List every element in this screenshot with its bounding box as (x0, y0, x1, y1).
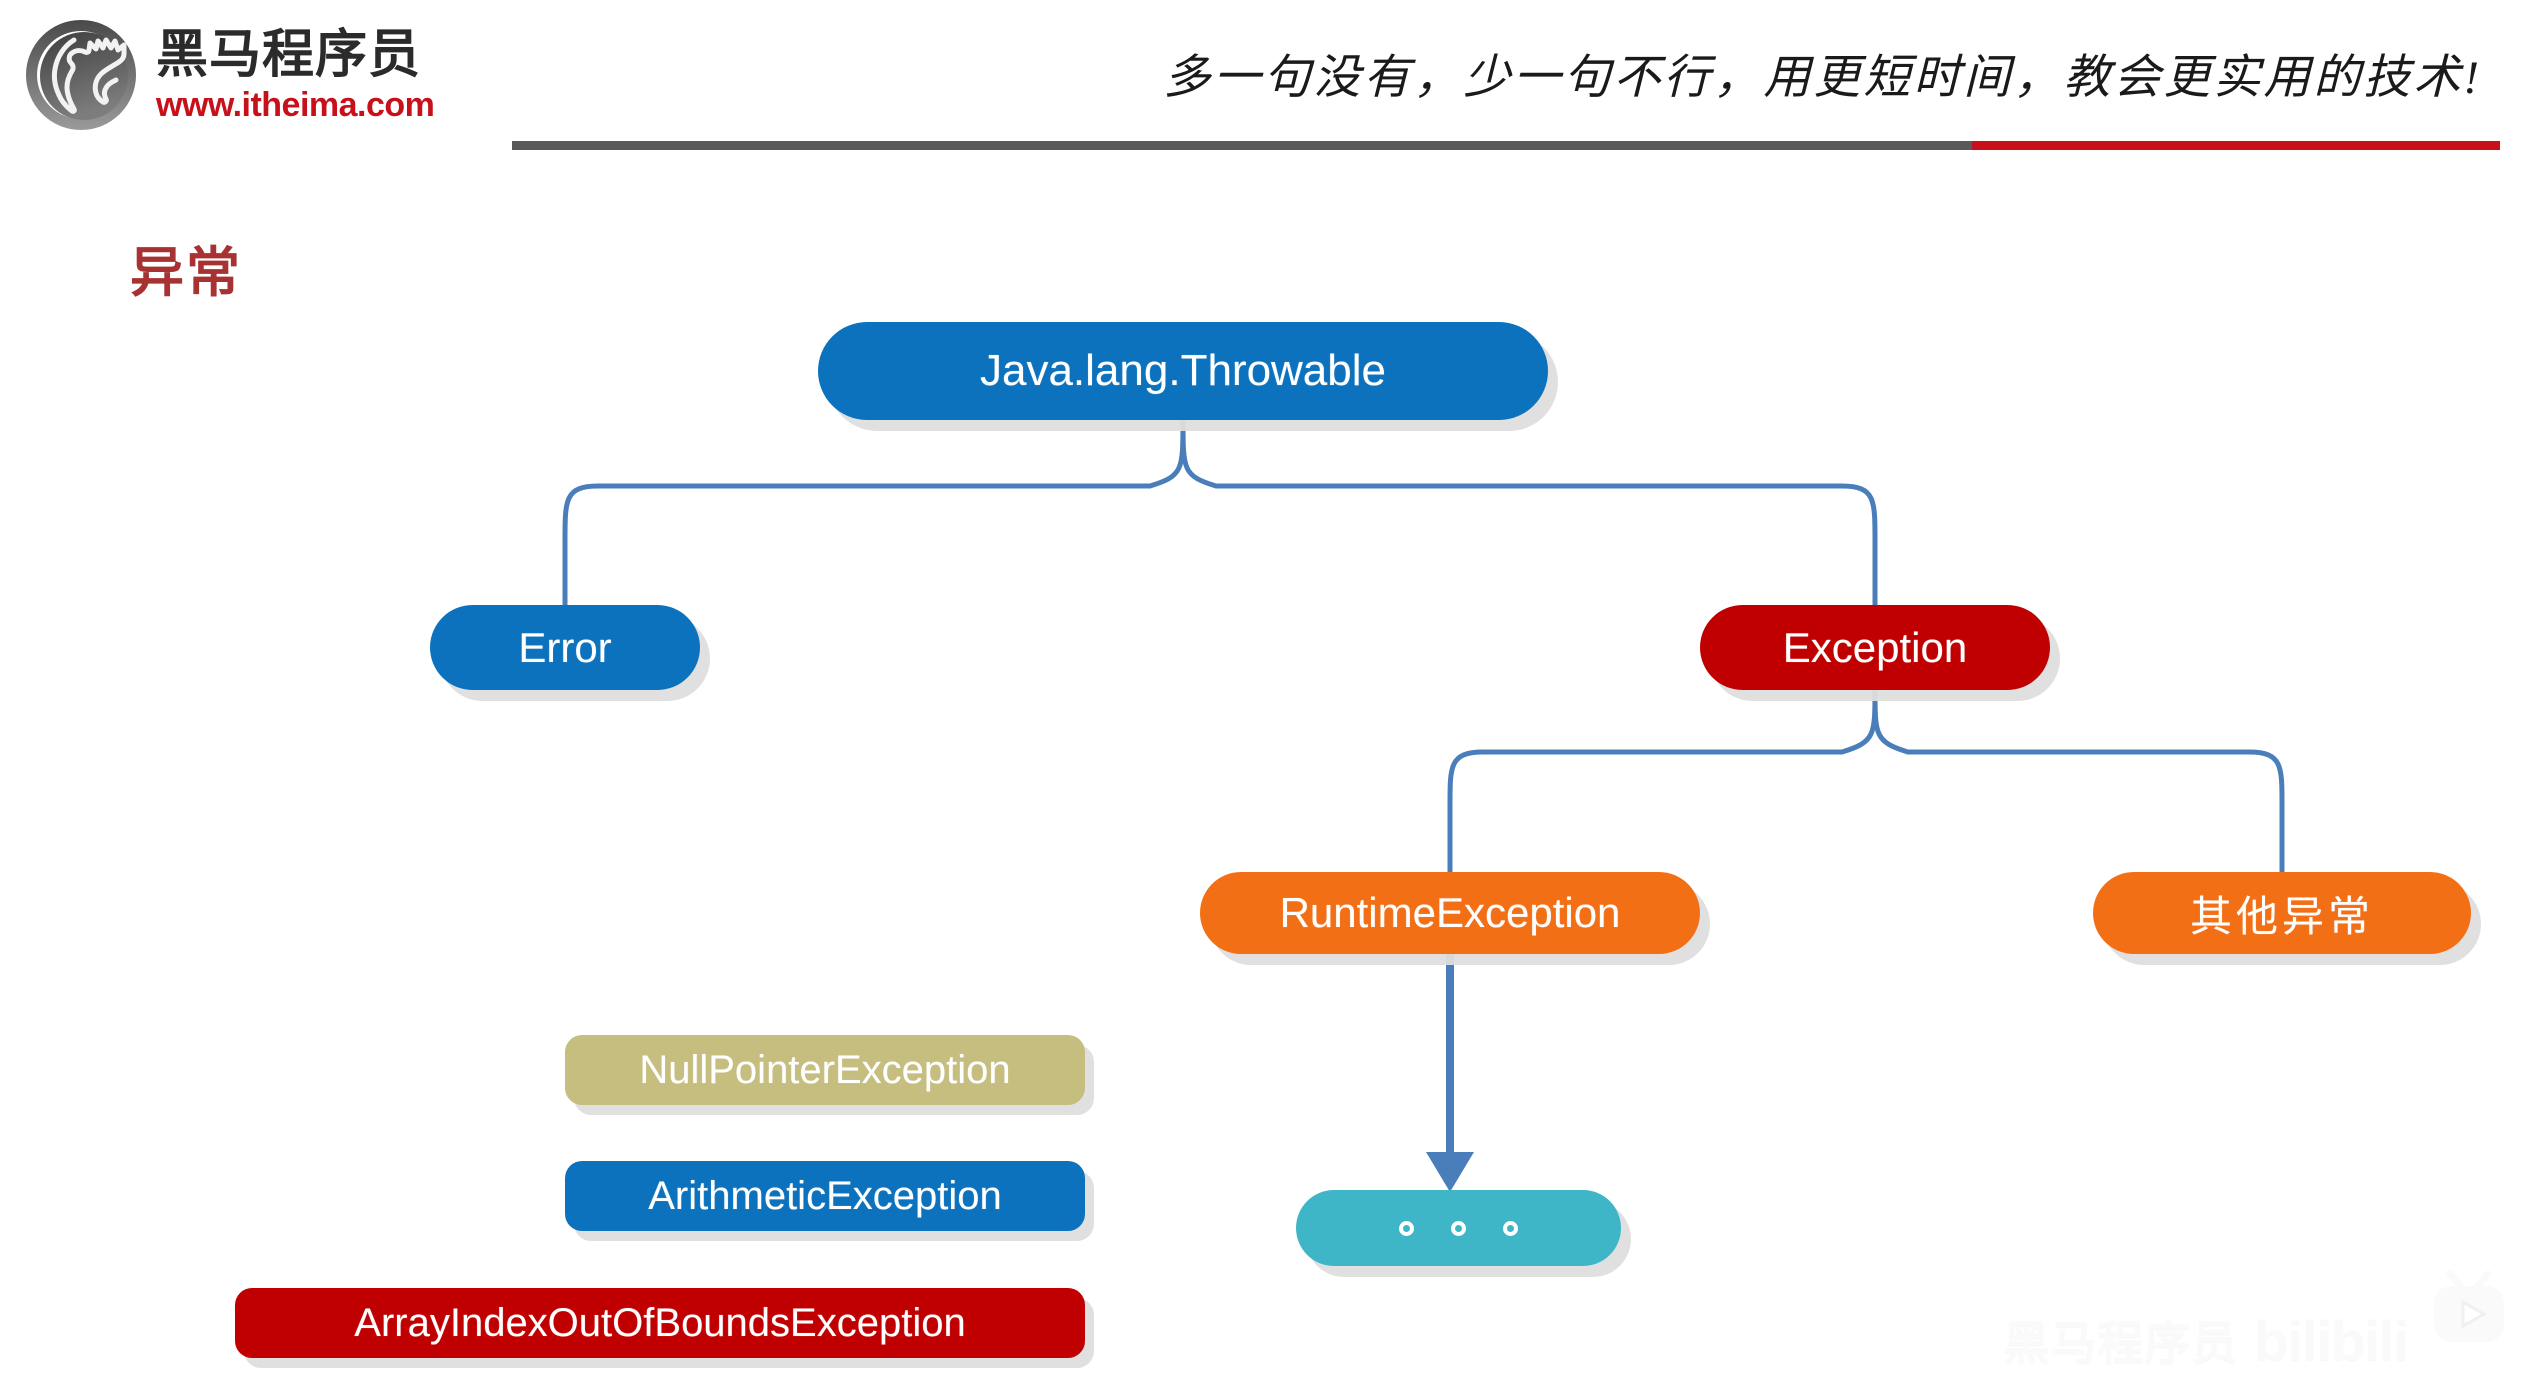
node-null-pointer-exception[interactable]: NullPointerException (565, 1035, 1085, 1105)
node-null-pointer-exception-label: NullPointerException (639, 1048, 1010, 1093)
node-runtime-exception-label: RuntimeException (1280, 889, 1621, 937)
node-throwable[interactable]: Java.lang.Throwable (818, 322, 1548, 420)
ellipsis-dot-2 (1451, 1221, 1466, 1236)
node-array-index-out-of-bounds-exception-label: ArrayIndexOutOfBoundsException (354, 1301, 965, 1346)
node-arithmetic-exception-label: ArithmeticException (648, 1174, 1001, 1219)
node-arithmetic-exception[interactable]: ArithmeticException (565, 1161, 1085, 1231)
node-error-label: Error (518, 624, 611, 672)
ellipsis-dot-1 (1399, 1221, 1414, 1236)
node-ellipsis[interactable] (1296, 1190, 1621, 1266)
ellipsis-dots-icon (1399, 1221, 1518, 1236)
ellipsis-dot-3 (1503, 1221, 1518, 1236)
node-exception-label: Exception (1783, 624, 1967, 672)
node-runtime-exception[interactable]: RuntimeException (1200, 872, 1700, 954)
node-throwable-label: Java.lang.Throwable (980, 346, 1386, 396)
node-error[interactable]: Error (430, 605, 700, 690)
node-other-exception[interactable]: 其他异常 (2093, 872, 2471, 954)
node-exception[interactable]: Exception (1700, 605, 2050, 690)
connector-lines (0, 0, 2522, 1373)
exception-hierarchy-diagram: Java.lang.Throwable Error Exception Runt… (0, 0, 2522, 1373)
node-array-index-out-of-bounds-exception[interactable]: ArrayIndexOutOfBoundsException (235, 1288, 1085, 1358)
node-other-exception-label: 其他异常 (2190, 883, 2374, 944)
